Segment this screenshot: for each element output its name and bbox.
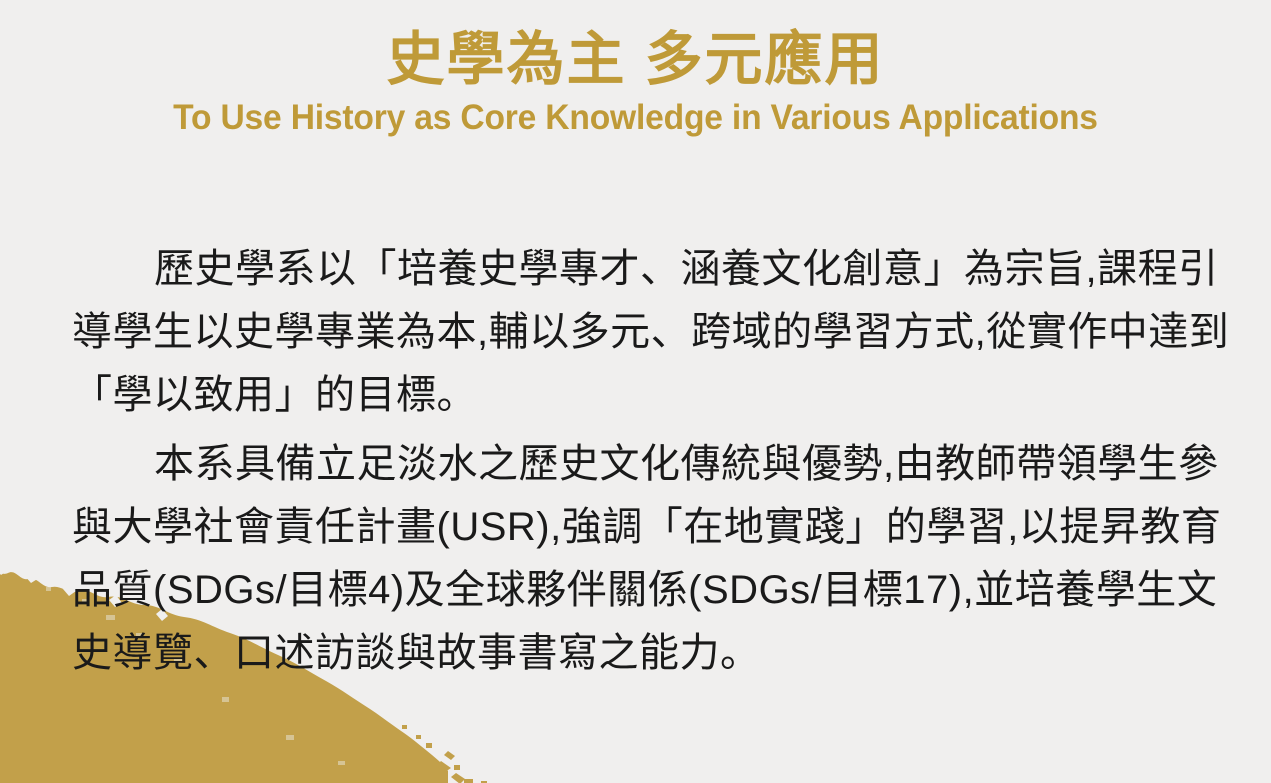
paragraph-mission: 歷史學系以「培養史學專才、涵養文化創意」為宗旨,課程引導學生以史學專業為本,輔以… [72, 238, 1232, 427]
slide-root: 史學為主 多元應用 To Use History as Core Knowled… [0, 0, 1271, 783]
page-subtitle-english: To Use History as Core Knowledge in Vari… [25, 98, 1245, 138]
page-title-chinese: 史學為主 多元應用 [0, 28, 1271, 93]
slide-heading: 史學為主 多元應用 To Use History as Core Knowled… [0, 28, 1271, 138]
body-content: 歷史學系以「培養史學專才、涵養文化創意」為宗旨,課程引導學生以史學專業為本,輔以… [72, 238, 1232, 685]
paragraph-usr-sdgs: 本系具備立足淡水之歷史文化傳統與優勢,由教師帶領學生參與大學社會責任計畫(USR… [72, 433, 1232, 685]
